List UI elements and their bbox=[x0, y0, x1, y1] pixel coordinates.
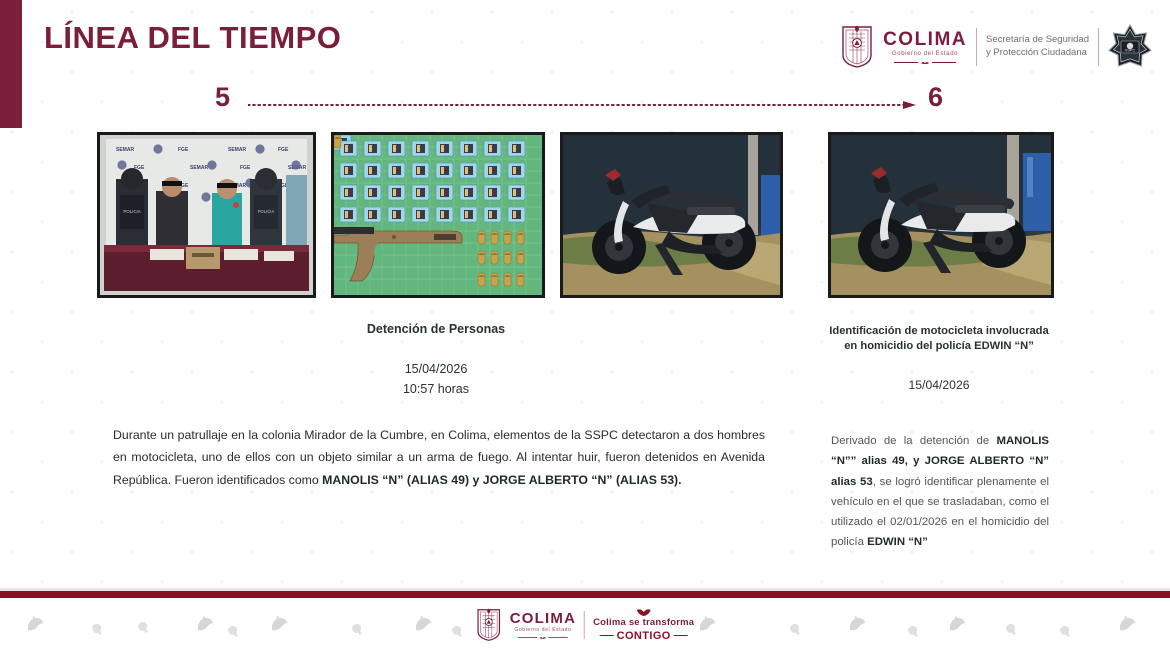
right-event-body: Derivado de la detención de MANOLIS “N””… bbox=[831, 431, 1049, 553]
colima-state-crest-icon bbox=[840, 25, 874, 69]
footer-slogan-line-2: CONTIGO bbox=[617, 630, 671, 642]
timeline-step-to: 6 bbox=[928, 82, 943, 113]
colima-wordmark: COLIMA Gobierno del Estado bbox=[510, 611, 576, 640]
colima-wordmark-rule bbox=[894, 60, 956, 64]
footer-red-band bbox=[0, 591, 1170, 598]
right-event-date: 15/04/2026 bbox=[828, 378, 1050, 392]
left-event-title: Detención de Personas bbox=[100, 322, 772, 336]
photo-motorcycle-left[interactable] bbox=[560, 132, 783, 298]
svg-text:SSPC: SSPC bbox=[1125, 48, 1136, 53]
photo-motorcycle-right[interactable] bbox=[828, 132, 1054, 298]
footer-colima-name: COLIMA bbox=[510, 611, 576, 626]
svg-text:SEMAR: SEMAR bbox=[190, 165, 208, 171]
colima-wordmark: COLIMA Gobierno del Estado bbox=[883, 30, 967, 64]
slide-canvas: LÍNEA DEL TIEMPO COLIMA Gobierno del Est… bbox=[0, 0, 1170, 652]
colima-wordmark-name: COLIMA bbox=[883, 30, 967, 49]
right-event-caption: Identificación de motocicleta involucrad… bbox=[828, 324, 1050, 392]
dotted-arrow-right-icon bbox=[248, 100, 920, 110]
page-title: LÍNEA DEL TIEMPO bbox=[44, 20, 341, 56]
secretariat-line-2: y Protección Ciudadana bbox=[986, 47, 1089, 60]
left-event-caption: Detención de Personas 15/04/2026 10:57 h… bbox=[100, 322, 772, 399]
dove-pair-icon bbox=[636, 608, 652, 617]
footer-branding: COLIMA Gobierno del Estado bbox=[476, 608, 695, 642]
photo-seized-evidence[interactable] bbox=[331, 132, 545, 298]
footer-slogan: Colima se transforma CONTIGO bbox=[593, 608, 694, 642]
footer-slogan-line-1: Colima se transforma bbox=[593, 618, 694, 628]
secretariat-name: Secretaría de Seguridad y Protección Ciu… bbox=[986, 34, 1089, 60]
svg-text:SEMAR: SEMAR bbox=[116, 147, 134, 153]
footer-body: COLIMA Gobierno del Estado bbox=[0, 598, 1170, 652]
footer-slogan-line-2-row: CONTIGO bbox=[600, 630, 688, 642]
svg-text:POLICIA: POLICIA bbox=[123, 209, 140, 214]
svg-text:POLICIA: POLICIA bbox=[258, 209, 275, 214]
svg-text:FGE: FGE bbox=[240, 165, 251, 171]
timeline-step-from: 5 bbox=[215, 82, 230, 113]
colima-state-crest-icon bbox=[476, 608, 502, 642]
left-event-date: 15/04/2026 bbox=[100, 359, 772, 379]
right-event-title: Identificación de motocicleta involucrad… bbox=[828, 324, 1050, 354]
svg-text:FGE: FGE bbox=[278, 147, 289, 153]
left-event-time: 10:57 horas bbox=[100, 379, 772, 399]
colima-wordmark-subtitle: Gobierno del Estado bbox=[892, 51, 958, 57]
branding-divider-1 bbox=[976, 28, 977, 66]
footer-branding-divider bbox=[584, 611, 585, 639]
photo-detention-of-persons[interactable]: SEMARFGESEMARFGE FGESEMARFGESEMAR SEMARF… bbox=[97, 132, 316, 298]
left-event-datetime: 15/04/2026 10:57 horas bbox=[100, 359, 772, 399]
header-branding: COLIMA Gobierno del Estado Secretaría de… bbox=[840, 22, 1152, 72]
left-accent-bar bbox=[0, 0, 22, 128]
police-star-badge-icon: SSPC bbox=[1108, 24, 1152, 70]
left-event-body: Durante un patrullaje en la colonia Mira… bbox=[113, 424, 765, 491]
slogan-dash-right bbox=[674, 635, 688, 637]
svg-text:FGE: FGE bbox=[178, 147, 189, 153]
footer-colima-subtitle: Gobierno del Estado bbox=[514, 628, 571, 633]
branding-divider-2 bbox=[1098, 28, 1099, 66]
secretariat-line-1: Secretaría de Seguridad bbox=[986, 34, 1089, 47]
footer: COLIMA Gobierno del Estado bbox=[0, 588, 1170, 652]
svg-text:SEMAR: SEMAR bbox=[228, 147, 246, 153]
slogan-dash-left bbox=[600, 635, 614, 637]
footer-colima-rule bbox=[518, 636, 568, 640]
